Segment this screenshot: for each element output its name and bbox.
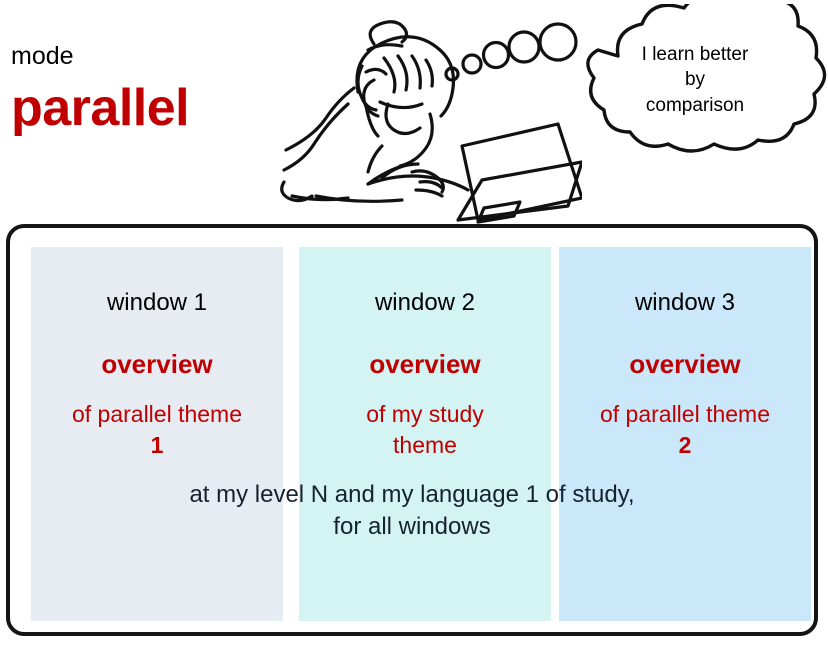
window-description-line-2: 2 [552, 430, 818, 461]
window-overview-label: overview [559, 351, 811, 377]
window-description-line-1: of parallel theme [552, 399, 818, 430]
thought-bubble-line-2: by [600, 67, 790, 92]
window-title: window 1 [31, 291, 283, 315]
window-overview-label: overview [31, 351, 283, 377]
window-description: of parallel theme 2 [552, 399, 818, 461]
mode-label: mode [11, 44, 74, 69]
window-panel-3[interactable]: window 3 overview of parallel theme 2 [559, 247, 811, 621]
window-panel-2[interactable]: window 2 overview of my study theme [299, 247, 551, 621]
thought-bubble-line-1: I learn better [600, 42, 790, 67]
thought-bubble-text: I learn better by comparison [600, 42, 790, 118]
window-description: of parallel theme 1 [24, 399, 290, 461]
window-title: window 3 [559, 291, 811, 315]
windows-frame: window 1 overview of parallel theme 1 wi… [6, 224, 818, 636]
header-area: mode parallel [0, 0, 828, 224]
window-description-line-1: of my study [292, 399, 558, 430]
window-overview-label: overview [299, 351, 551, 377]
window-panel-1[interactable]: window 1 overview of parallel theme 1 [31, 247, 283, 621]
window-description-line-2: theme [292, 430, 558, 461]
window-description: of my study theme [292, 399, 558, 461]
window-title: window 2 [299, 291, 551, 315]
window-description-line-2: 1 [24, 430, 290, 461]
thought-bubble-line-3: comparison [600, 93, 790, 118]
mode-value: parallel [11, 82, 189, 134]
window-description-line-1: of parallel theme [24, 399, 290, 430]
